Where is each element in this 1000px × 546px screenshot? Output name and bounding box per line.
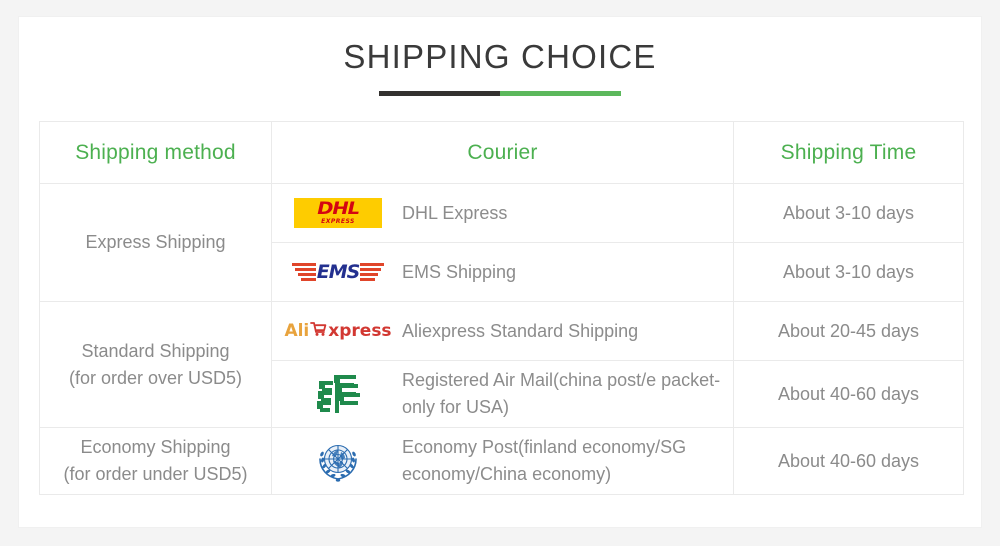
column-header-shipping-time: Shipping Time	[734, 122, 964, 184]
table-row: Express Shipping DHL EXPRESS DHL Express	[40, 184, 964, 243]
title-underline-dark-segment	[379, 91, 500, 96]
table-header-row: Shipping method Courier Shipping Time	[40, 122, 964, 184]
table-row: Economy Shipping (for order under USD5)	[40, 428, 964, 495]
aliexpress-logo: Ali xpress	[292, 308, 384, 354]
method-sublabel: (for order under USD5)	[48, 461, 263, 488]
method-cell-economy: Economy Shipping (for order under USD5)	[40, 428, 272, 495]
courier-label: Economy Post(finland economy/SG economy/…	[402, 434, 723, 488]
method-sublabel: (for order over USD5)	[48, 365, 263, 392]
ems-logo-wordmark: EMS	[317, 261, 360, 283]
method-label: Express Shipping	[85, 232, 225, 252]
courier-cell-china-post: Registered Air Mail(china post/e packet-…	[272, 361, 734, 428]
time-cell: About 3-10 days	[734, 243, 964, 302]
courier-label: Aliexpress Standard Shipping	[402, 318, 638, 345]
column-header-courier: Courier	[272, 122, 734, 184]
time-cell: About 20-45 days	[734, 302, 964, 361]
title-underline-green-segment	[500, 91, 621, 96]
method-label: Economy Shipping	[80, 437, 230, 457]
united-nations-emblem-icon	[313, 436, 363, 486]
dhl-logo-wordmark: DHL	[317, 201, 359, 218]
method-label: Standard Shipping	[81, 341, 229, 361]
shopping-cart-icon	[310, 321, 327, 341]
shipping-info-card: SHIPPING CHOICE Shipping method Courier …	[18, 16, 982, 528]
china-post-emblem-icon	[314, 372, 362, 416]
time-cell: About 40-60 days	[734, 428, 964, 495]
dhl-logo-subtext: EXPRESS	[321, 219, 355, 225]
china-post-logo	[292, 371, 384, 417]
courier-cell-dhl: DHL EXPRESS DHL Express	[272, 184, 734, 243]
title-underline	[379, 91, 621, 96]
courier-cell-aliexpress: Ali xpress	[272, 302, 734, 361]
courier-cell-economy-post: Economy Post(finland economy/SG economy/…	[272, 428, 734, 495]
title-block: SHIPPING CHOICE	[19, 17, 981, 96]
method-cell-express: Express Shipping	[40, 184, 272, 302]
table-header: Shipping method Courier Shipping Time	[40, 122, 964, 184]
page-root: SHIPPING CHOICE Shipping method Courier …	[0, 0, 1000, 546]
ems-logo-right-wing	[360, 263, 384, 281]
ems-logo-left-wing	[292, 263, 316, 281]
dhl-logo: DHL EXPRESS	[292, 190, 384, 236]
courier-label: DHL Express	[402, 200, 507, 227]
un-post-logo	[292, 438, 384, 484]
aliexpress-logo-xpress-text: xpress	[328, 323, 391, 340]
courier-label: Registered Air Mail(china post/e packet-…	[402, 367, 723, 421]
page-title: SHIPPING CHOICE	[19, 35, 981, 79]
aliexpress-logo-ali-text: Ali	[284, 323, 309, 340]
table-body: Express Shipping DHL EXPRESS DHL Express	[40, 184, 964, 495]
shipping-table: Shipping method Courier Shipping Time Ex…	[39, 121, 964, 495]
courier-label: EMS Shipping	[402, 259, 516, 286]
ems-logo: EMS	[292, 249, 384, 295]
method-cell-standard: Standard Shipping (for order over USD5)	[40, 302, 272, 428]
time-cell: About 40-60 days	[734, 361, 964, 428]
courier-cell-ems: EMS EMS Shipping	[272, 243, 734, 302]
table-row: Standard Shipping (for order over USD5) …	[40, 302, 964, 361]
time-cell: About 3-10 days	[734, 184, 964, 243]
column-header-shipping-method: Shipping method	[40, 122, 272, 184]
